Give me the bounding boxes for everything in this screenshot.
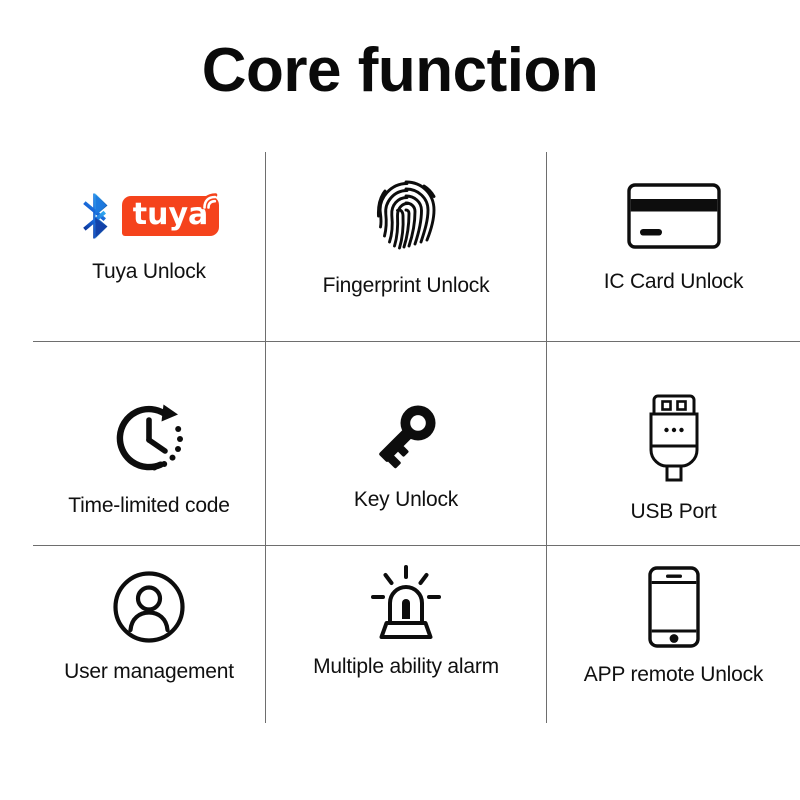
feature-label-ic-card-unlock: IC Card Unlock — [604, 270, 744, 294]
siren-alarm-icon — [364, 565, 448, 641]
feature-label-fingerprint-unlock: Fingerprint Unlock — [323, 274, 490, 298]
tuya-logo-badge: tuya — [122, 196, 220, 236]
core-function-infographic: Core function — [0, 0, 800, 800]
page-title: Core function — [0, 38, 800, 103]
feature-cell-tuya-unlock: tuya Tuya Unlock — [33, 188, 265, 284]
feature-cell-fingerprint-unlock: Fingerprint Unlock — [266, 172, 546, 298]
key-icon — [365, 396, 447, 474]
smartphone-icon — [645, 565, 703, 649]
feature-cell-multiple-ability-alarm: Multiple ability alarm — [266, 565, 546, 679]
feature-cell-ic-card-unlock: IC Card Unlock — [547, 182, 800, 294]
grid-divider-horizontal-1 — [33, 341, 800, 342]
feature-label-usb-port: USB Port — [631, 500, 717, 524]
feature-cell-app-remote-unlock: APP remote Unlock — [547, 565, 800, 687]
feature-cell-user-management: User management — [33, 568, 265, 684]
feature-label-app-remote-unlock: APP remote Unlock — [584, 663, 763, 687]
feature-label-time-limited-code: Time-limited code — [68, 494, 230, 518]
feature-cell-key-unlock: Key Unlock — [266, 396, 546, 512]
feature-cell-time-limited-code: Time-limited code — [33, 398, 265, 518]
tuya-brand-lockup: tuya — [79, 188, 220, 244]
bluetooth-tuya-icon: tuya — [79, 188, 220, 244]
tuya-wordmark: tuya — [133, 200, 209, 230]
feature-cell-usb-port: USB Port — [547, 392, 800, 524]
usb-connector-icon — [644, 392, 704, 484]
user-circle-icon — [110, 568, 188, 646]
clock-history-icon — [106, 398, 192, 480]
grid-divider-horizontal-2 — [33, 545, 800, 546]
bluetooth-icon — [79, 192, 113, 240]
feature-label-key-unlock: Key Unlock — [354, 488, 458, 512]
feature-label-user-management: User management — [64, 660, 234, 684]
feature-label-tuya-unlock: Tuya Unlock — [92, 260, 206, 284]
feature-label-multiple-ability-alarm: Multiple ability alarm — [313, 655, 499, 679]
ic-card-icon — [626, 182, 722, 250]
fingerprint-icon — [369, 172, 443, 258]
